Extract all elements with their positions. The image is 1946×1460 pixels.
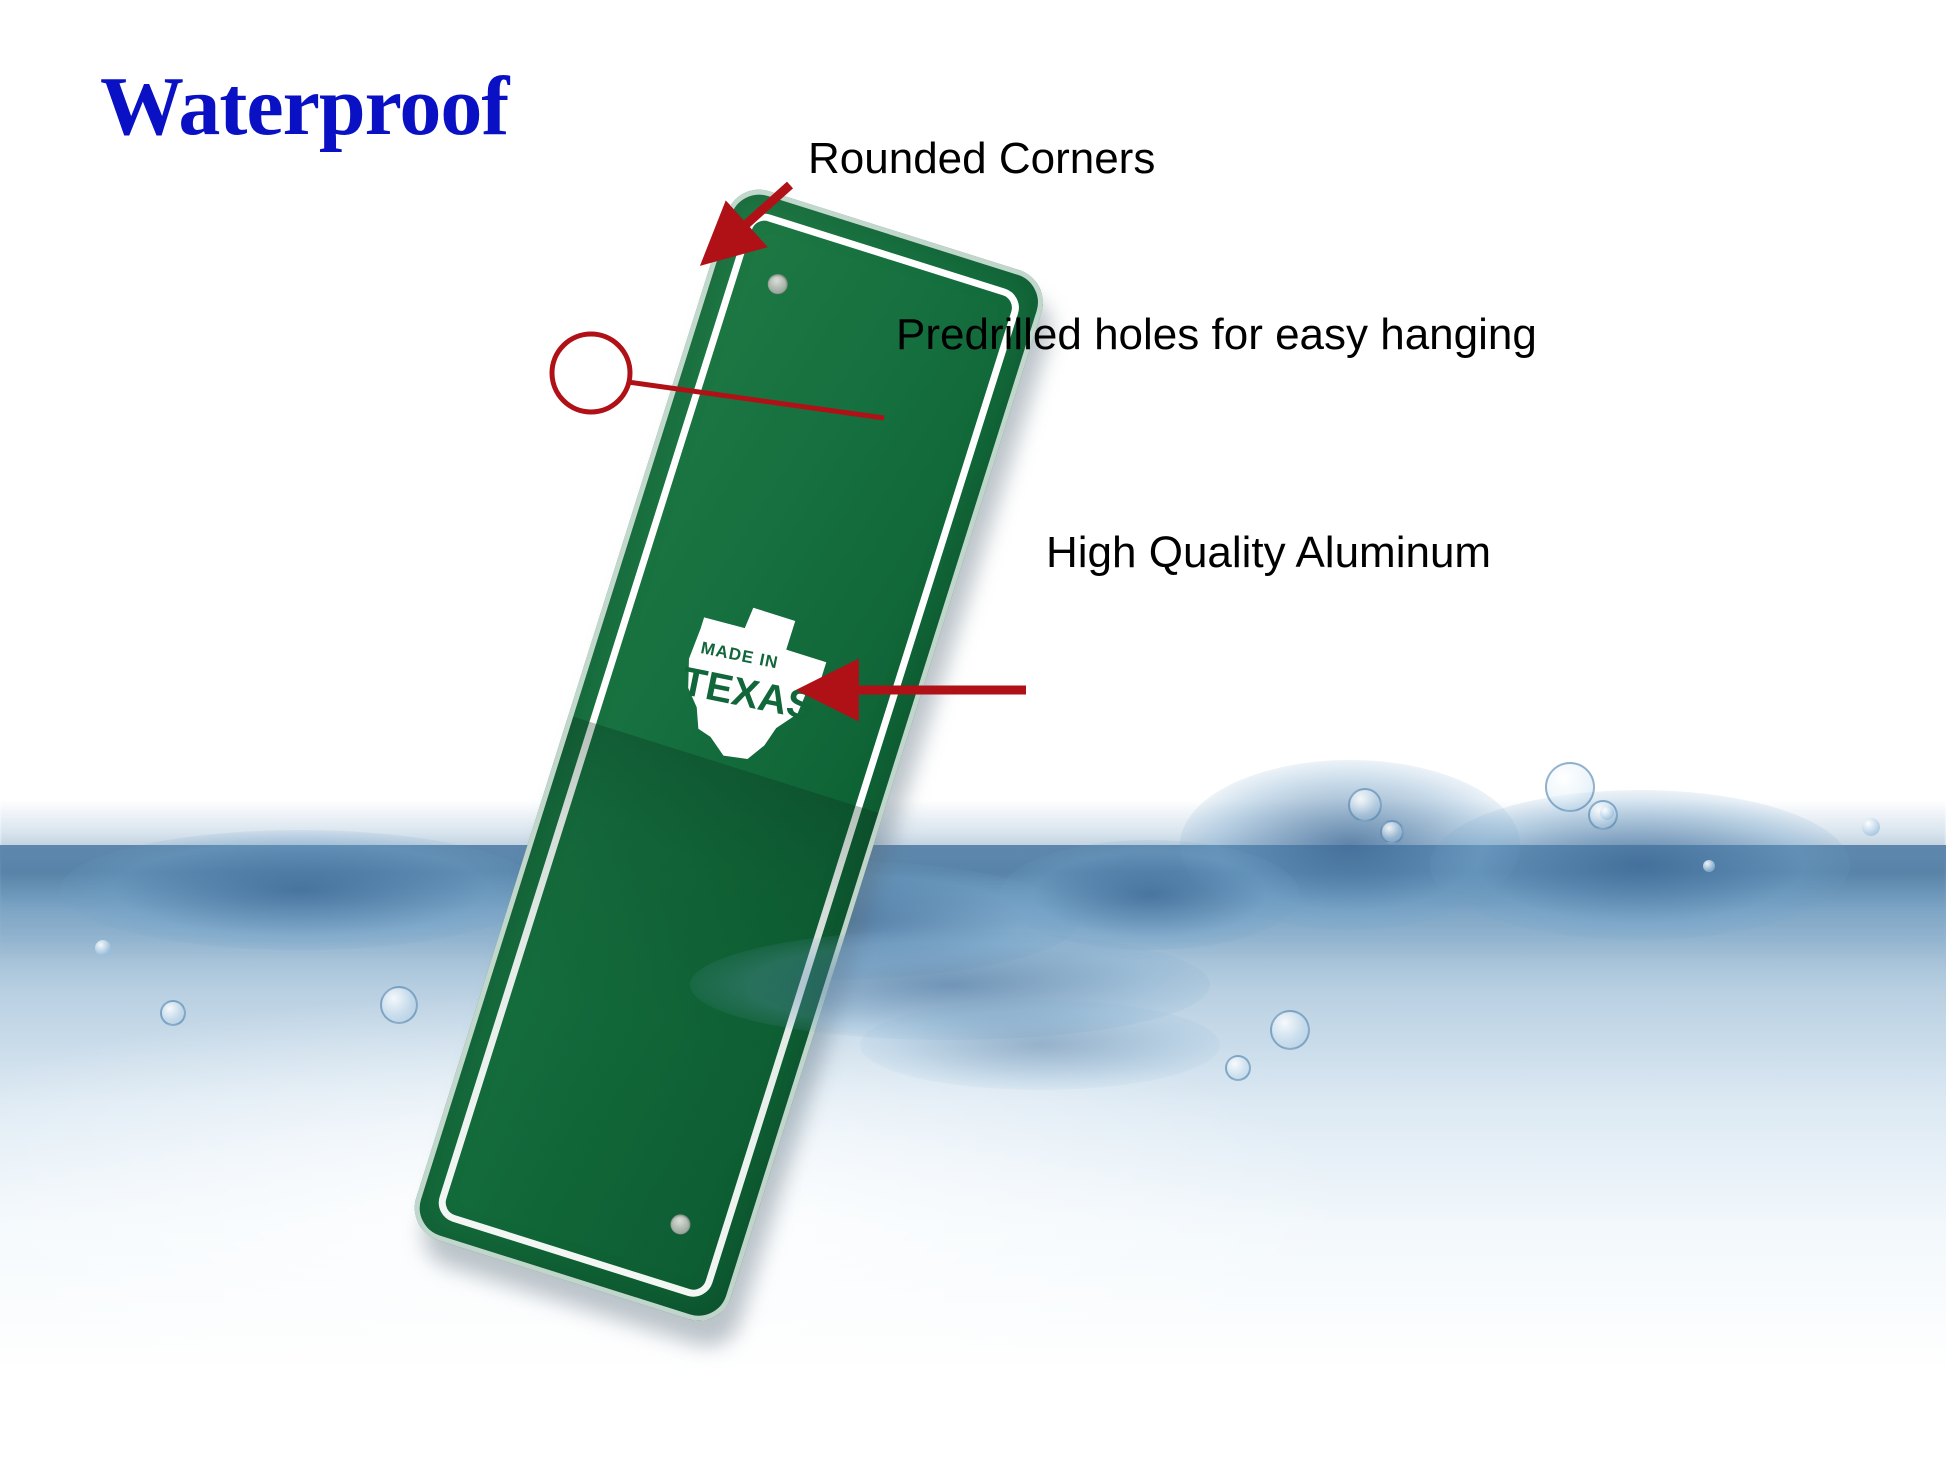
product-feature-image: Waterproof MADE IN TEXAS xyxy=(0,0,1946,1460)
callout-high-quality-aluminum: High Quality Aluminum xyxy=(1046,528,1491,578)
callout-rounded-corners: Rounded Corners xyxy=(808,134,1155,184)
page-title: Waterproof xyxy=(100,58,508,155)
callout-predrilled-holes: Predrilled holes for easy hanging xyxy=(896,310,1537,360)
